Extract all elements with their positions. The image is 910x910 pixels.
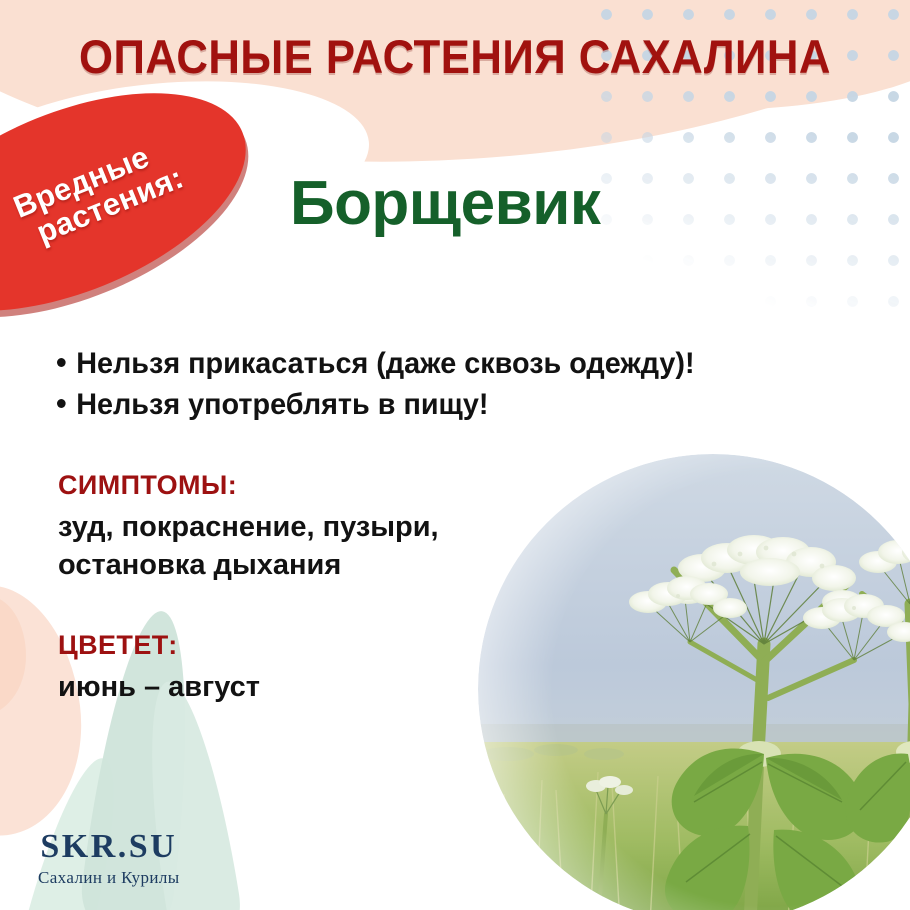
bloom-heading: ЦВЕТЕТ:	[58, 630, 260, 661]
bullet-dot-icon	[57, 358, 66, 367]
plant-name-heading: Борщевик	[290, 168, 600, 239]
skr-su-logo[interactable]: SKR.SU Сахалин и Курилы	[38, 830, 180, 888]
warning-text: Нельзя употреблять в пищу!	[76, 388, 488, 421]
logo-wordmark: SKR.SU	[38, 830, 180, 864]
harmful-plants-badge: Вредные растения:	[0, 49, 276, 355]
warning-text: Нельзя прикасаться (даже сквозь одежду)!	[76, 347, 694, 380]
badge-text: Вредные растения:	[0, 132, 188, 262]
list-item: Нельзя прикасаться (даже сквозь одежду)!	[57, 344, 695, 385]
symptoms-line-1: зуд, покраснение, пузыри,	[58, 508, 439, 546]
hogweed-plant-photo	[478, 454, 910, 910]
infographic-poster: ОПАСНЫЕ РАСТЕНИЯ САХАЛИНА Вредные растен…	[0, 0, 910, 910]
logo-tagline: Сахалин и Курилы	[38, 868, 180, 888]
symptoms-block: СИМПТОМЫ: зуд, покраснение, пузыри, оста…	[58, 470, 439, 585]
symptoms-heading: СИМПТОМЫ:	[58, 470, 439, 501]
peach-left-blob	[0, 576, 95, 846]
bullet-dot-icon	[57, 399, 66, 408]
bloom-period: июнь – август	[58, 668, 260, 706]
symptoms-line-2: остановка дыхания	[58, 546, 439, 584]
warning-list: Нельзя прикасаться (даже сквозь одежду)!…	[57, 344, 721, 426]
list-item: Нельзя употреблять в пищу!	[57, 385, 695, 426]
symptoms-body: зуд, покраснение, пузыри, остановка дыха…	[58, 508, 439, 585]
bloom-block: ЦВЕТЕТ: июнь – август	[58, 630, 260, 706]
bloom-body: июнь – август	[58, 668, 260, 706]
poster-title: ОПАСНЫЕ РАСТЕНИЯ САХАЛИНА	[32, 29, 878, 84]
peach-left-blob-inner	[0, 596, 26, 716]
